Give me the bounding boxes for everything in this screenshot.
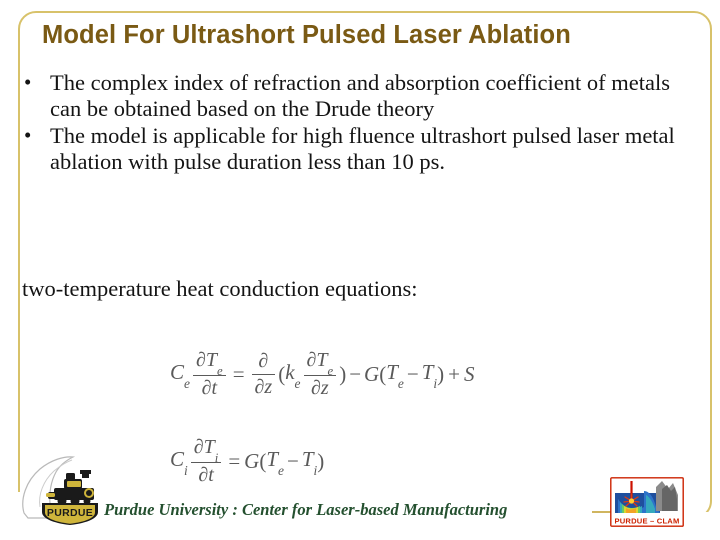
eq1-Ti: Ti (422, 362, 437, 387)
footer-caption: Purdue University : Center for Laser-bas… (104, 500, 507, 520)
eq1-equals: = (233, 364, 245, 385)
equations-subheading: two-temperature heat conduction equation… (22, 276, 418, 302)
eq1-rhs-fraction: ∂Te ∂z (304, 349, 337, 400)
eq2-Ti: Ti (302, 449, 317, 474)
eq1-Te: Te (386, 362, 404, 387)
eq2-lhs-coefficient: Ci (170, 449, 188, 474)
eq1-minus: − (349, 364, 361, 385)
eq1-lhs-coefficient: Ce (170, 362, 190, 387)
lattice-energy-equation: Ci ∂Ti ∂t = G ( Te − Ti ) (170, 436, 324, 487)
eq1-inner-minus: − (407, 364, 419, 385)
eq2-group-open: ( (259, 451, 266, 472)
electron-energy-equation: Ce ∂Te ∂t = ∂ ∂z ( ke ∂Te ∂z ) − G ( Te … (170, 349, 474, 400)
bullet-marker-icon: • (24, 70, 50, 96)
eq1-group-close: ) (437, 364, 444, 385)
list-item: • The complex index of refraction and ab… (24, 70, 696, 121)
eq2-inner-minus: − (287, 451, 299, 472)
eq1-source-S: S (464, 364, 475, 385)
eq1-conductivity: ke (285, 362, 300, 387)
eq2-equals: = (228, 451, 240, 472)
purdue-clam-logo: PURDUE – CLAM (610, 477, 684, 527)
eq1-open-paren: ( (278, 364, 285, 385)
bullet-list: • The complex index of refraction and ab… (24, 70, 696, 176)
slide-title: Model For Ultrashort Pulsed Laser Ablati… (42, 20, 682, 50)
eq1-close-paren: ) (339, 364, 346, 385)
eq2-group-close: ) (317, 451, 324, 472)
slide-canvas: Model For Ultrashort Pulsed Laser Ablati… (0, 0, 720, 540)
eq1-partial-z-operator: ∂ ∂z (252, 350, 276, 398)
clam-logo-label: PURDUE – CLAM (614, 516, 679, 525)
eq1-lhs-fraction: ∂Te ∂t (193, 349, 226, 400)
eq1-coupling-G: G (364, 364, 379, 385)
eq2-lhs-fraction: ∂Ti ∂t (191, 436, 222, 487)
eq1-group-open: ( (379, 364, 386, 385)
eq2-Te: Te (266, 449, 284, 474)
purdue-boilermaker-special-logo: PURDUE (18, 443, 116, 525)
eq2-coupling-G: G (244, 451, 259, 472)
list-item: • The model is applicable for high fluen… (24, 123, 696, 174)
eq1-plus: + (448, 364, 460, 385)
bullet-marker-icon: • (24, 123, 50, 149)
bullet-text: The complex index of refraction and abso… (50, 70, 694, 121)
bullet-text: The model is applicable for high fluence… (50, 123, 690, 174)
